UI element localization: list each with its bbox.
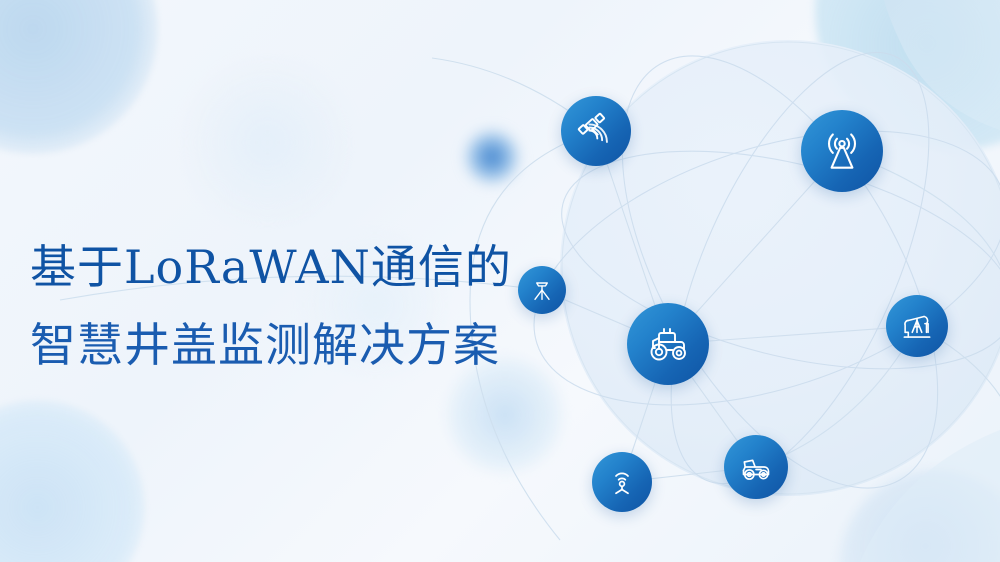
title-line-1: 基于LoRaWAN通信的	[30, 228, 512, 306]
corner-shape-top-right	[884, 0, 1000, 130]
satellite-icon	[575, 110, 617, 152]
page-title: 基于LoRaWAN通信的 智慧井盖监测解决方案	[30, 228, 512, 384]
radio-tower-node[interactable]	[801, 110, 883, 192]
decor-accent-dot	[463, 128, 521, 186]
corner-shape-bottom-right	[860, 430, 1000, 562]
decor-blob-top-left	[0, 0, 158, 154]
decor-blob-bottom-left	[0, 400, 145, 562]
slide-canvas: 基于LoRaWAN通信的 智慧井盖监测解决方案	[0, 0, 1000, 562]
tripod-node[interactable]	[518, 266, 566, 314]
satellite-node[interactable]	[561, 96, 631, 166]
radio-tower-icon	[817, 126, 867, 176]
globe-sphere	[560, 40, 1000, 496]
oil-pump-node[interactable]	[886, 295, 948, 357]
harvester-icon	[736, 447, 776, 487]
wifi-sensor-node[interactable]	[592, 452, 652, 512]
tractor-icon	[642, 318, 694, 370]
harvester-node[interactable]	[724, 435, 788, 499]
decor-blob-faint-a	[180, 55, 355, 230]
wifi-sensor-icon	[604, 464, 640, 500]
tripod-icon	[528, 276, 556, 304]
oil-pump-icon	[898, 307, 936, 345]
decor-blob-bottom-right	[840, 470, 1000, 562]
title-line-2: 智慧井盖监测解决方案	[30, 306, 512, 384]
tractor-node[interactable]	[627, 303, 709, 385]
